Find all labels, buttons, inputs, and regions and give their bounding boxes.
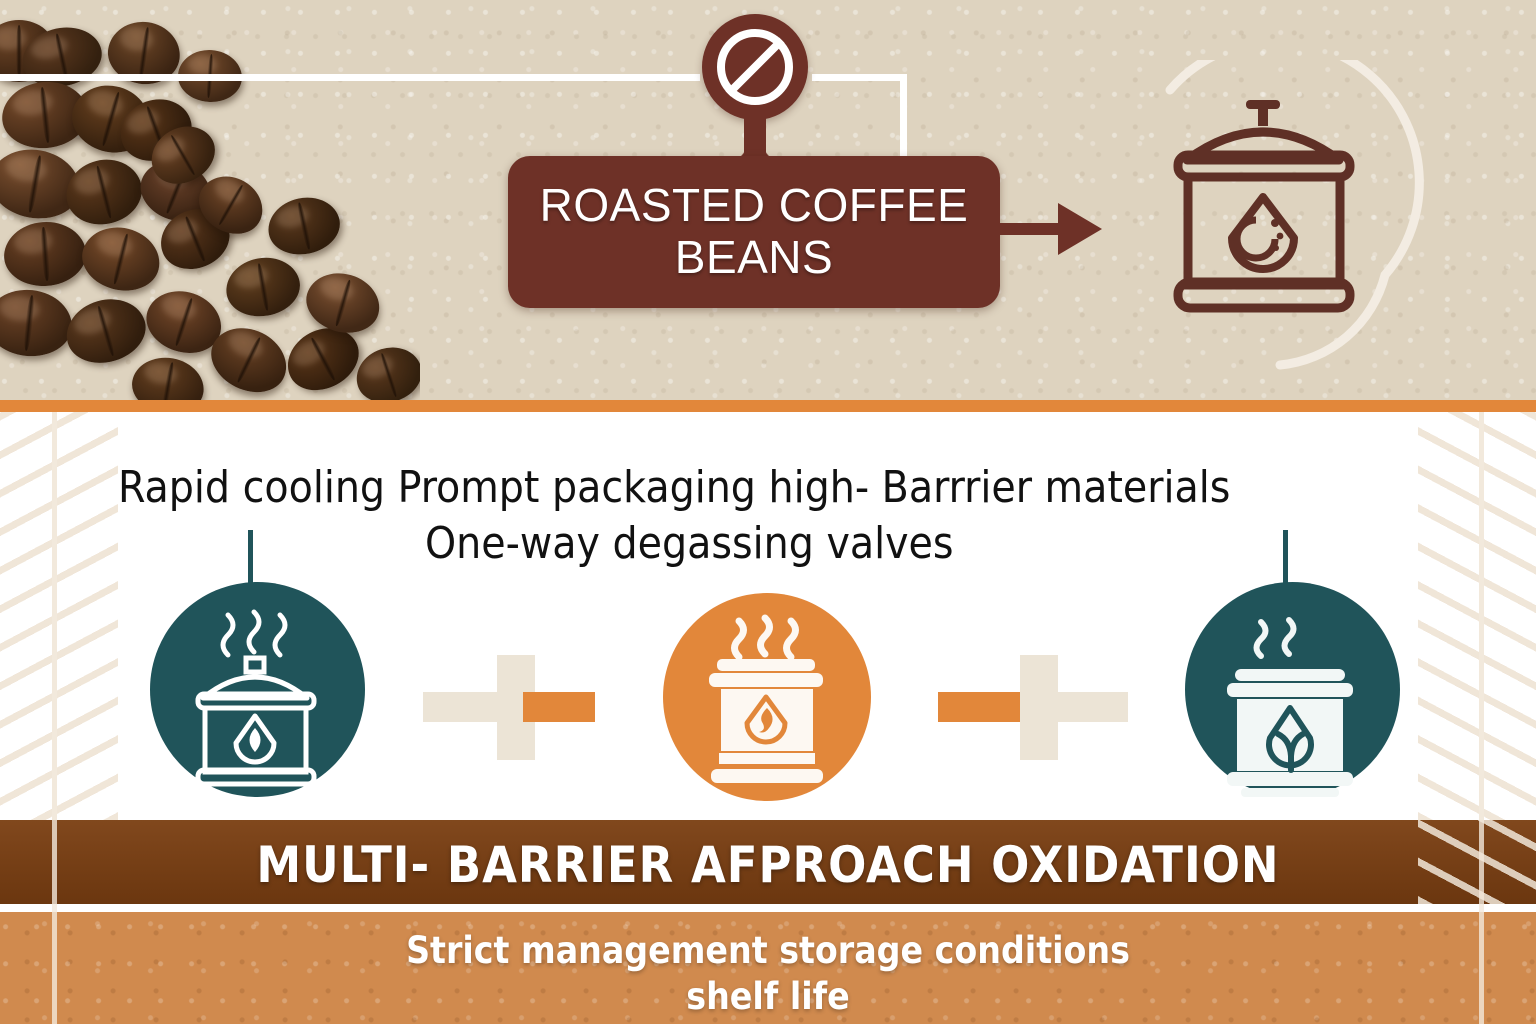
right-hatch-decoration [1418, 412, 1536, 820]
right-hatch-edge [1479, 412, 1484, 820]
footer-line-1: Strict management storage conditions [0, 928, 1536, 974]
coffee-canister-steam-icon [150, 582, 365, 797]
step-3-circle[interactable] [1185, 582, 1400, 797]
roasted-coffee-beans-node[interactable]: ROASTED COFFEE BEANS [508, 156, 1000, 308]
footer-left-edge [52, 820, 57, 1024]
plus-icon-1 [423, 655, 618, 760]
footer-right-edge [1479, 820, 1484, 1024]
footer-line-2: shelf life [0, 974, 1536, 1020]
top-white-rule-right [812, 74, 907, 81]
node-label: ROASTED COFFEE BEANS [540, 180, 969, 283]
plus-icon-2-vertical [1020, 655, 1058, 760]
footer-text-block: Strict management storage conditions she… [0, 928, 1536, 1021]
top-white-rule-left [0, 74, 700, 81]
coffee-canister-flame-icon [663, 593, 871, 801]
node-label-line1: ROASTED COFFEE [540, 180, 969, 232]
middle-headline-line2: One-way degassing valves [425, 518, 954, 569]
plus-icon-2-right-arm [1056, 692, 1128, 722]
plus-icon-1-left-arm [423, 692, 523, 722]
node-label-line2: BEANS [540, 232, 969, 284]
coffee-canister-outline-icon [1130, 60, 1430, 380]
left-hatch-decoration [0, 412, 118, 820]
plus-icon-2 [938, 655, 1133, 760]
arrow-right-icon-head [1058, 203, 1102, 255]
step-1-circle[interactable] [150, 582, 365, 797]
top-white-rule-vertical [900, 74, 907, 164]
roasted-coffee-beans-photo [0, 0, 420, 400]
bottom-banner-title: MULTI- BARRIER AFPROACH OXIDATION [0, 836, 1536, 894]
no-entry-icon [702, 14, 808, 120]
plus-icon-2-left-arm [938, 692, 1028, 722]
infographic-canvas: ROASTED COFFEE BEANS [0, 0, 1536, 1024]
footer-band: Strict management storage conditions she… [0, 912, 1536, 1024]
middle-headline-line1: Rapid cooling Prompt packaging high- Bar… [118, 462, 1230, 513]
top-band: ROASTED COFFEE BEANS [0, 0, 1536, 400]
coffee-canister-leaf-icon [1185, 582, 1400, 797]
left-hatch-edge [52, 412, 57, 820]
step-2-circle[interactable] [663, 593, 871, 801]
plus-icon-1-right-arm [523, 692, 595, 722]
